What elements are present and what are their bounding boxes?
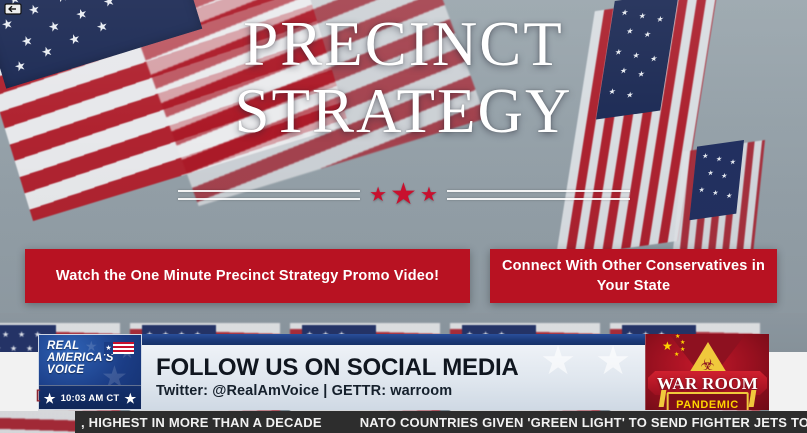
war-room-pandemic-logo: ☣ ★ ★ ★ ★ ★ WAR ROOM PANDEMIC — [645, 334, 769, 410]
war-room-title: WAR ROOM — [657, 375, 758, 392]
star-icon-china-small-4: ★ — [674, 352, 679, 358]
logo-line-3: VOICE — [47, 365, 141, 377]
lower-third-headline: FOLLOW US ON SOCIAL MEDIA — [156, 356, 645, 380]
logo-bar-right — [749, 390, 757, 407]
lower-third-content: ★ ★ FOLLOW US ON SOCIAL MEDIA Twitter: @… — [142, 345, 645, 410]
divider-line-left — [178, 185, 361, 205]
back-arrow-icon[interactable] — [3, 2, 23, 15]
star-icon-small-left: ★ — [369, 185, 387, 205]
star-divider: ★ ★ ★ — [178, 178, 630, 212]
star-icon-clock-right: ★ — [124, 392, 136, 405]
promo-video-button-label: Watch the One Minute Precinct Strategy P… — [46, 266, 449, 286]
clock-bar: ★ 10:03 AM CT ★ — [39, 385, 141, 410]
broadcast-lower-third: ★ ★ ★ ★ REAL AMERICA'S VOICE ★ 10:03 AM … — [38, 334, 769, 410]
video-player-frame: ★ ★ ★ ★ ★ ★ ★ ★ ★ ★ ★ ★ ★ ★ ★ ★ ★ ★ ★ ★ … — [0, 0, 807, 433]
star-icon-china-small-3: ★ — [680, 347, 685, 353]
connect-conservatives-button[interactable]: Connect With Other Conservatives in Your… — [490, 249, 777, 303]
star-icon-large-center: ★ — [390, 180, 417, 210]
current-time: 10:03 AM CT — [61, 393, 120, 404]
ticker-item-2: NATO COUNTRIES GIVEN 'GREEN LIGHT' TO SE… — [360, 415, 807, 430]
star-icon-small-right: ★ — [420, 185, 438, 205]
news-ticker: , HIGHEST IN MORE THAN A DECADE NATO COU… — [75, 411, 807, 433]
lower-third-accent-bar — [142, 334, 645, 345]
lower-third-text-panel: ★ ★ FOLLOW US ON SOCIAL MEDIA Twitter: @… — [142, 334, 645, 410]
pandemic-plate: PANDEMIC — [666, 392, 749, 410]
china-flag-stars: ★ ★ ★ ★ ★ — [662, 337, 673, 355]
divider-line-right — [447, 185, 630, 205]
promo-video-button[interactable]: Watch the One Minute Precinct Strategy P… — [25, 249, 470, 303]
left-margin-fill — [0, 352, 38, 411]
star-icon-china-large: ★ — [662, 339, 673, 353]
pandemic-label: PANDEMIC — [676, 399, 739, 410]
divider-stars: ★ ★ ★ — [360, 180, 447, 210]
logo-wordmark-area: ★ REAL AMERICA'S VOICE — [39, 335, 141, 385]
logo-line-2: AMERICA'S — [47, 353, 141, 365]
star-icon-china-small-2: ★ — [680, 340, 685, 346]
ticker-item-1: , HIGHEST IN MORE THAN A DECADE — [81, 415, 322, 430]
flag-icon: ★ — [104, 342, 134, 354]
real-americas-voice-logo: ★ ★ ★ ★ REAL AMERICA'S VOICE ★ 10:03 AM … — [38, 334, 142, 410]
page-title-line-1: PRECINCT — [0, 14, 807, 74]
hero-title-block: PRECINCT STRATEGY — [0, 14, 807, 142]
star-icon-clock-left: ★ — [44, 392, 56, 405]
connect-conservatives-button-label: Connect With Other Conservatives in Your… — [490, 256, 777, 296]
left-bracket-glyph: [ — [36, 388, 40, 401]
right-margin-fill — [769, 352, 807, 411]
page-title-line-2: STRATEGY — [0, 81, 807, 141]
flag-canton-right-small: ★ ★ ★ ★ ★ ★ ★ ★ — [689, 140, 744, 220]
lower-third-subline: Twitter: @RealAmVoice | GETTR: warroom — [156, 383, 645, 399]
flag-icon-star: ★ — [105, 345, 111, 352]
